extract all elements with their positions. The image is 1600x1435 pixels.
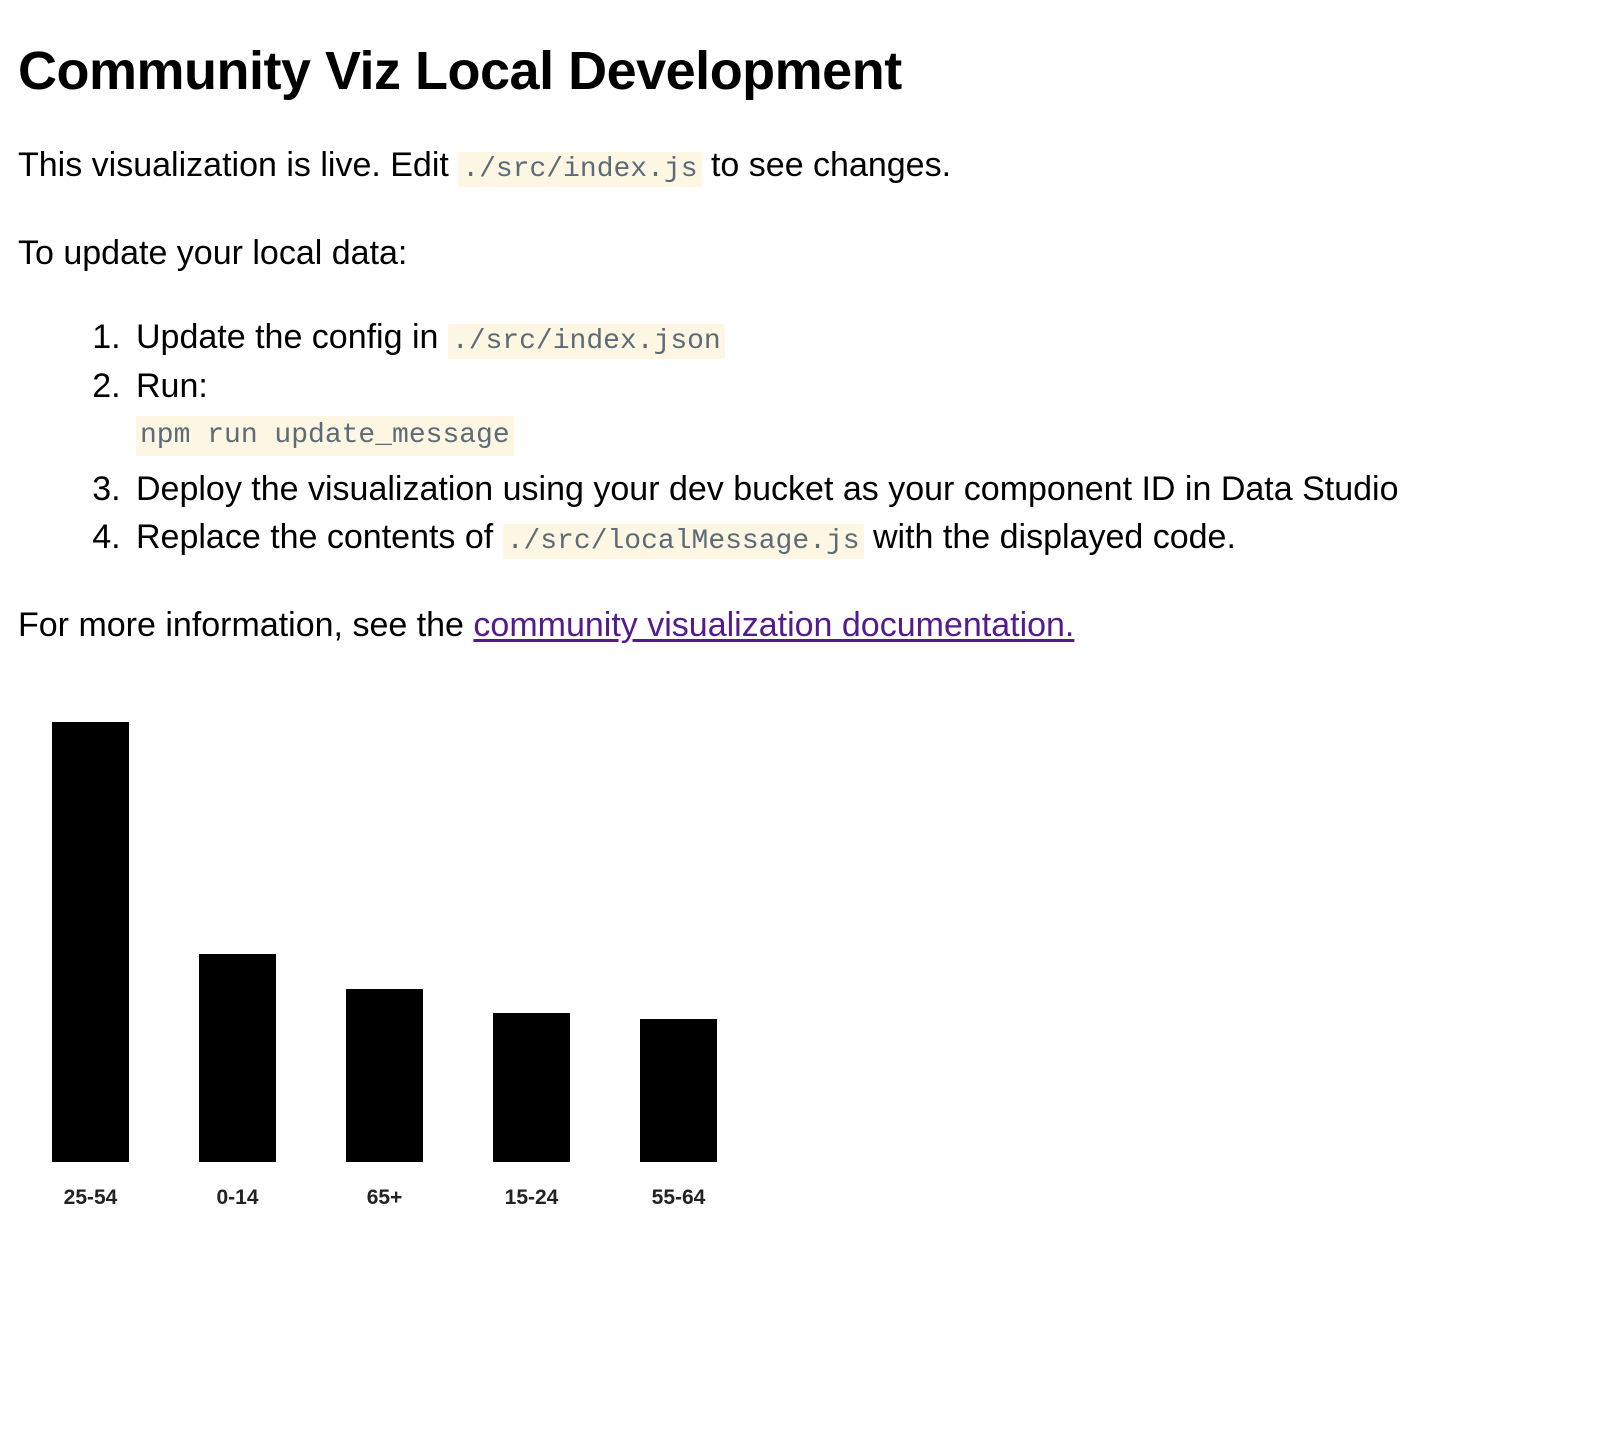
bar — [199, 954, 276, 1162]
step-4-text-after: with the displayed code. — [864, 518, 1236, 556]
community-visualization-documentation-link[interactable]: community visualization documentation. — [473, 606, 1074, 644]
intro-text-after: to see changes. — [702, 146, 952, 184]
list-item: Replace the contents of ./src/localMessa… — [130, 515, 1578, 560]
bar-chart: 25-540-1465+15-2455-64 — [18, 692, 798, 1232]
intro-text-before: This visualization is live. Edit — [18, 146, 458, 184]
footer-paragraph: For more information, see the community … — [18, 604, 1578, 648]
footer-text-before: For more information, see the — [18, 606, 473, 644]
step-3-text-before: Deploy the visualization using your dev … — [136, 470, 1398, 508]
step-2-code-block: npm run update_message — [136, 416, 514, 456]
step-2-text-before: Run: — [136, 367, 208, 405]
page-root: Community Viz Local Development This vis… — [0, 0, 1600, 1435]
step-1-inline-code: ./src/index.json — [448, 324, 725, 359]
bar-tick-label: 25-54 — [64, 1186, 118, 1209]
step-1-text-before: Update the config in — [136, 318, 448, 356]
list-item: Deploy the visualization using your dev … — [130, 467, 1578, 511]
list-item: Update the config in ./src/index.json — [130, 315, 1578, 360]
steps-list: Update the config in ./src/index.json Ru… — [18, 315, 1578, 560]
page-title: Community Viz Local Development — [18, 40, 1578, 102]
bar — [52, 722, 129, 1162]
intro-paragraph: This visualization is live. Edit ./src/i… — [18, 144, 1578, 188]
bar-tick-label: 65+ — [367, 1186, 403, 1209]
intro-inline-code: ./src/index.js — [458, 152, 701, 187]
bar — [346, 989, 423, 1162]
step-4-inline-code: ./src/localMessage.js — [503, 524, 864, 559]
bar — [640, 1019, 717, 1162]
bar-tick-label: 15-24 — [505, 1186, 559, 1209]
update-heading: To update your local data: — [18, 232, 1578, 276]
list-item: Run:npm run update_message — [130, 364, 1578, 465]
bar-tick-label: 0-14 — [216, 1186, 258, 1209]
step-4-text-before: Replace the contents of — [136, 518, 503, 556]
bar-chart-svg: 25-540-1465+15-2455-64 — [18, 692, 798, 1232]
bar-tick-label: 55-64 — [652, 1186, 706, 1209]
bar — [493, 1013, 570, 1162]
